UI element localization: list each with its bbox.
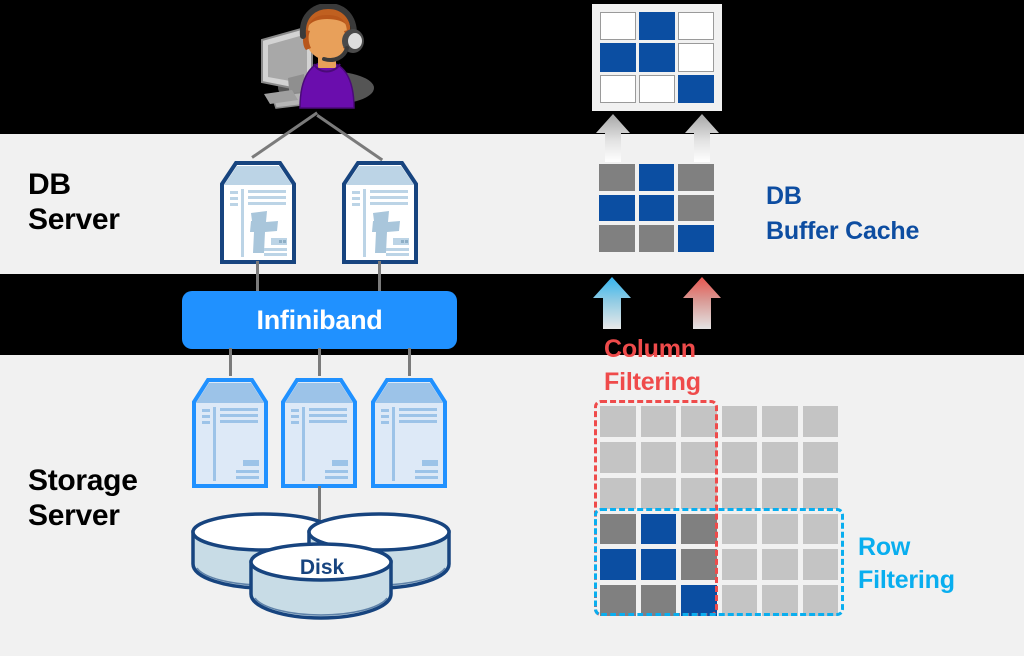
db-server-node-2[interactable]	[340, 158, 420, 266]
grid-cell	[599, 164, 635, 191]
storage-tier-band	[0, 355, 1024, 656]
row-filter-selection-box	[594, 508, 844, 616]
grid-cell	[639, 43, 675, 71]
grid-cell	[762, 442, 798, 473]
arrow-up-gradient-blue-icon	[593, 277, 631, 329]
grid-cell	[639, 164, 675, 191]
storage-server-node-2[interactable]	[279, 374, 359, 490]
db-buffer-cache-grid	[599, 164, 714, 252]
arrow-up-gradient-gray-icon	[596, 114, 630, 162]
grid-cell	[678, 225, 714, 252]
connector-infiniband-to-storage3	[408, 348, 411, 376]
row-filtering-label-line1: Row	[858, 531, 955, 564]
arrow-up-gradient-gray-icon	[685, 114, 719, 162]
db-buffer-cache-label: DB Buffer Cache	[766, 179, 919, 249]
grid-cell	[678, 12, 714, 40]
db-server-node-1[interactable]	[218, 158, 298, 266]
grid-cell	[600, 12, 636, 40]
grid-cell	[639, 195, 675, 222]
grid-cell	[762, 406, 798, 437]
diagram-canvas: DB Server Storage Server	[0, 0, 1024, 656]
connector-db1-to-infiniband	[256, 261, 259, 293]
db-buffer-cache-label-line1: DB	[766, 179, 919, 214]
grid-cell	[803, 442, 839, 473]
db-buffer-cache-label-line2: Buffer Cache	[766, 214, 919, 249]
grid-cell	[678, 195, 714, 222]
infiniband-switch[interactable]: Infiniband	[182, 291, 457, 349]
infiniband-label: Infiniband	[257, 305, 383, 336]
db-tier-label-line1: DB	[28, 167, 120, 202]
column-filtering-label: Column Filtering	[604, 333, 701, 400]
grid-cell	[803, 478, 839, 509]
grid-cell	[639, 225, 675, 252]
grid-cell	[803, 406, 839, 437]
row-filtering-label-line2: Filtering	[858, 564, 955, 597]
grid-cell	[599, 225, 635, 252]
grid-cell	[722, 406, 758, 437]
row-filtering-label: Row Filtering	[858, 531, 955, 598]
column-filtering-label-line2: Filtering	[604, 366, 701, 399]
grid-cell	[639, 75, 675, 103]
storage-tier-label-line1: Storage	[28, 463, 138, 498]
grid-cell	[678, 75, 714, 103]
storage-tier-label-line2: Server	[28, 498, 138, 533]
connector-db2-to-infiniband	[378, 261, 381, 293]
grid-cell	[639, 12, 675, 40]
grid-cell	[600, 75, 636, 103]
result-set-grid	[592, 4, 722, 111]
grid-cell	[722, 442, 758, 473]
db-tier-label: DB Server	[28, 167, 120, 238]
grid-cell	[678, 164, 714, 191]
storage-server-node-3[interactable]	[369, 374, 449, 490]
grid-cell	[599, 195, 635, 222]
grid-cell	[722, 478, 758, 509]
operator-with-headset-icon	[248, 4, 378, 112]
arrow-up-gradient-red-icon	[683, 277, 721, 329]
storage-server-node-1[interactable]	[190, 374, 270, 490]
storage-tier-label: Storage Server	[28, 463, 138, 534]
connector-infiniband-to-storage1	[229, 348, 232, 376]
disk-label: Disk	[286, 556, 358, 580]
grid-cell	[678, 43, 714, 71]
grid-cell	[600, 43, 636, 71]
connector-infiniband-to-storage2	[318, 348, 321, 376]
db-tier-label-line2: Server	[28, 202, 120, 237]
column-filtering-label-line1: Column	[604, 333, 701, 366]
grid-cell	[762, 478, 798, 509]
